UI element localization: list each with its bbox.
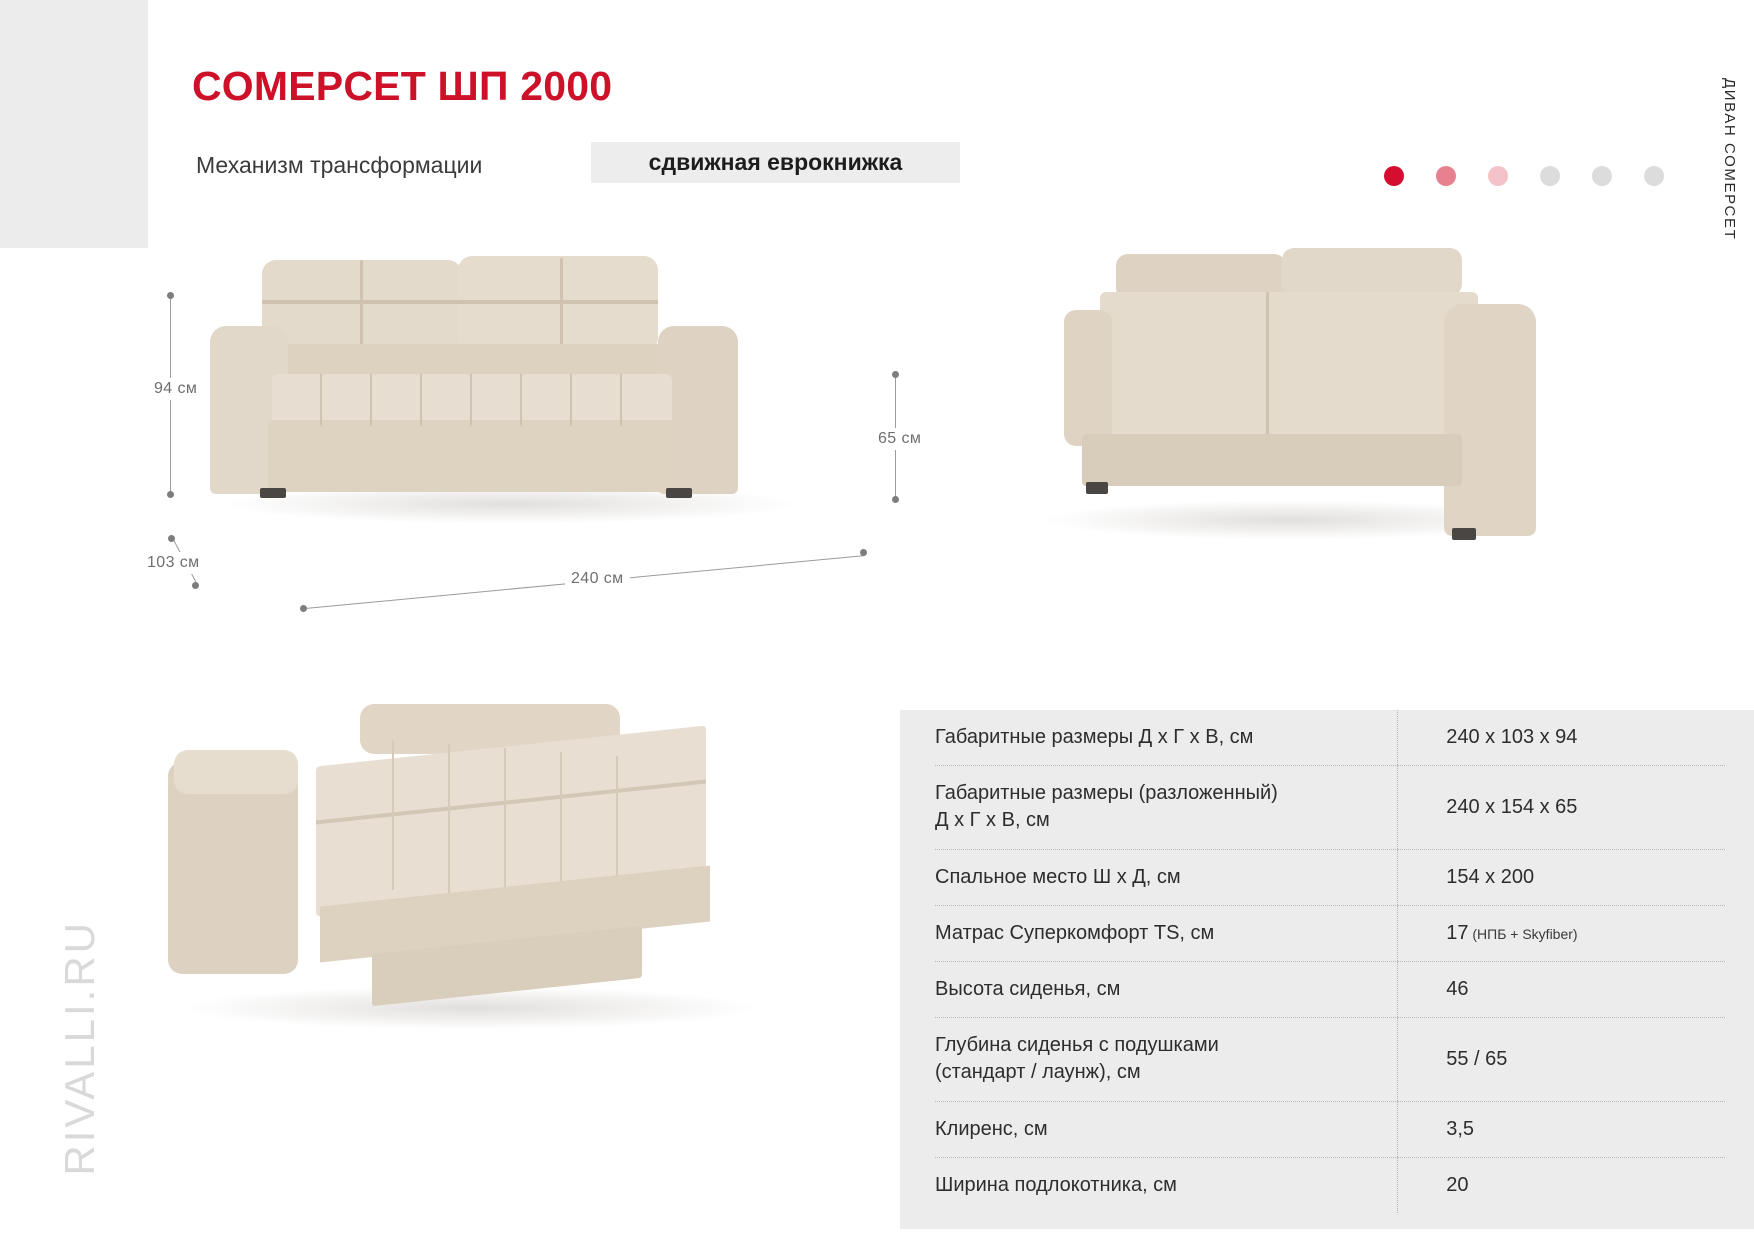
dim-seat-height-dot-top <box>892 371 899 378</box>
spec-row-value: 3,5 <box>1398 1101 1725 1157</box>
sofa-unfolded-view-image <box>160 690 780 1020</box>
dim-width-label: 240 см <box>565 568 630 590</box>
spec-row-key: Ширина подлокотника, см <box>935 1157 1398 1213</box>
spec-row: Глубина сиденья с подушками(стандарт / л… <box>935 1018 1725 1101</box>
brand-watermark: RIVALLI.RU <box>56 920 104 1176</box>
spec-row: Габаритные размеры (разложенный)Д x Г x … <box>935 766 1725 849</box>
dim-height-label: 94 см <box>148 378 203 400</box>
product-spec-sheet: COMEPCET ШП 2000 Механизм трансформации … <box>0 0 1754 1241</box>
swatch-grey-2[interactable] <box>1592 166 1612 186</box>
dim-depth-dot-top <box>168 535 175 542</box>
dim-depth-dot-bottom <box>192 582 199 589</box>
dim-seat-height-dot-bottom <box>892 496 899 503</box>
page-title: COMEPCET ШП 2000 <box>192 63 612 110</box>
mechanism-badge-text: сдвижная еврокнижка <box>649 149 903 176</box>
swatch-grey-1[interactable] <box>1540 166 1560 186</box>
swatch-red[interactable] <box>1384 166 1404 186</box>
spec-row-key: Спальное место Ш x Д, см <box>935 849 1398 905</box>
spec-row-value: 20 <box>1398 1157 1725 1213</box>
corner-accent-block <box>0 0 148 248</box>
dim-height-dot-top <box>167 292 174 299</box>
spec-row: Ширина подлокотника, см20 <box>935 1157 1725 1213</box>
sofa-back-view-image <box>1020 238 1560 538</box>
spec-row-key: Матрас Суперкомфорт TS, см <box>935 905 1398 961</box>
spec-row-value: 17 (НПБ + Skyfiber) <box>1398 905 1725 961</box>
side-caption: ДИВАН СОМЕРСЕТ <box>1721 78 1738 240</box>
spec-row-key: Клиренс, см <box>935 1101 1398 1157</box>
spec-row-value: 154 x 200 <box>1398 849 1725 905</box>
spec-row-note: (НПБ + Skyfiber) <box>1468 926 1577 942</box>
sofa-front-view-image <box>210 248 810 528</box>
spec-row: Клиренс, см3,5 <box>935 1101 1725 1157</box>
spec-row-key: Глубина сиденья с подушками(стандарт / л… <box>935 1018 1398 1101</box>
dim-depth-label: 103 см <box>141 552 206 574</box>
swatch-pink-light[interactable] <box>1488 166 1508 186</box>
spec-row-value: 55 / 65 <box>1398 1018 1725 1101</box>
dim-seat-height-label: 65 см <box>872 428 927 450</box>
spec-row-key: Высота сиденья, см <box>935 961 1398 1017</box>
spec-row-value: 240 x 154 x 65 <box>1398 766 1725 849</box>
spec-row-key: Габаритные размеры (разложенный)Д x Г x … <box>935 766 1398 849</box>
dim-height-dot-bottom <box>167 491 174 498</box>
mechanism-badge: сдвижная еврокнижка <box>591 142 960 183</box>
dim-width-dot-right <box>860 549 867 556</box>
spec-row: Высота сиденья, см46 <box>935 961 1725 1017</box>
spec-row: Матрас Суперкомфорт TS, см17 (НПБ + Skyf… <box>935 905 1725 961</box>
spec-row-key: Габаритные размеры Д x Г x В, см <box>935 710 1398 766</box>
spec-row: Габаритные размеры Д x Г x В, см240 x 10… <box>935 710 1725 766</box>
spec-row-value: 46 <box>1398 961 1725 1017</box>
mechanism-label: Механизм трансформации <box>196 152 482 179</box>
spec-row-value: 240 x 103 x 94 <box>1398 710 1725 766</box>
swatch-rose[interactable] <box>1436 166 1456 186</box>
color-swatch-list <box>1384 166 1664 186</box>
dim-width-dot-left <box>300 605 307 612</box>
specification-table: Габаритные размеры Д x Г x В, см240 x 10… <box>935 710 1725 1213</box>
spec-row: Спальное место Ш x Д, см154 x 200 <box>935 849 1725 905</box>
swatch-grey-3[interactable] <box>1644 166 1664 186</box>
